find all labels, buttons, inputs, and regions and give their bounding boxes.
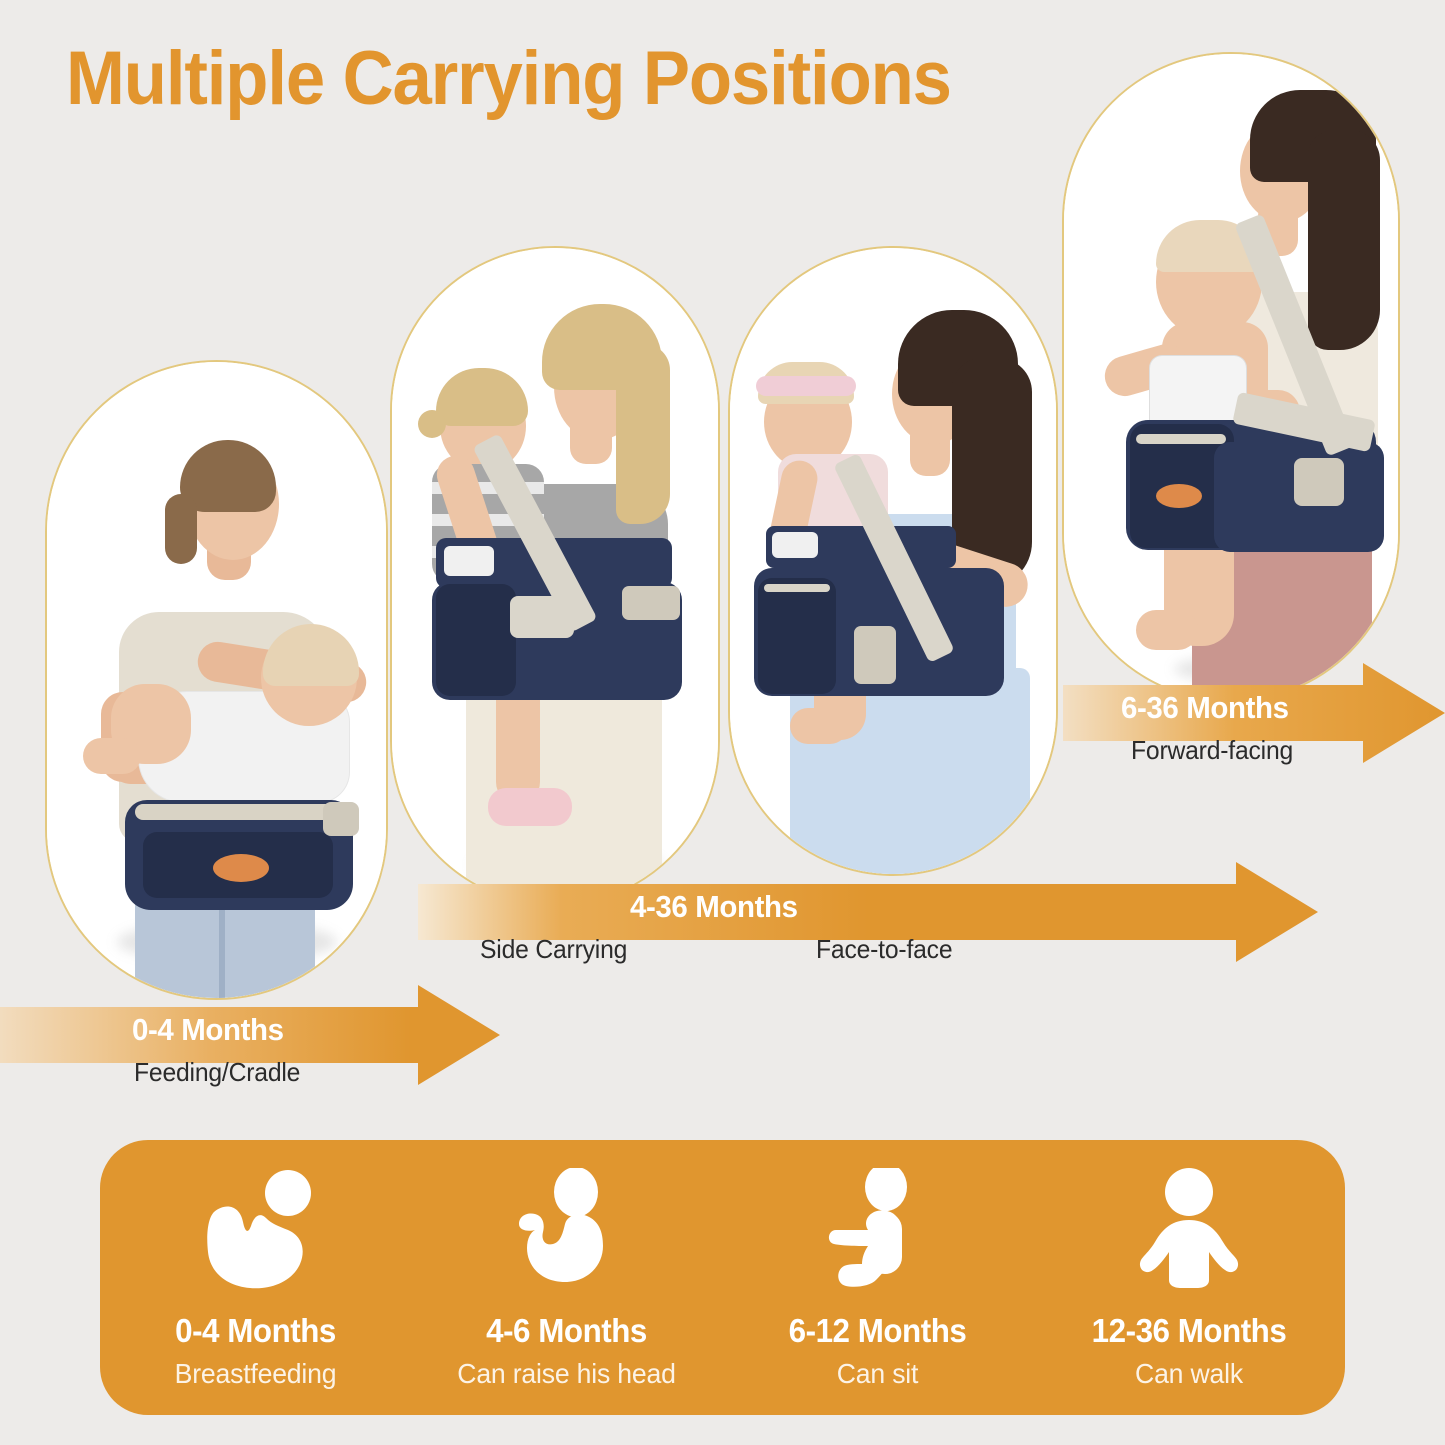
stage-age-breastfeeding: 0-4 Months [108, 1312, 403, 1350]
arrow-6-36-months: 6-36 Months Forward-facing [1063, 663, 1445, 763]
stage-age-can-walk: 12-36 Months [1041, 1312, 1337, 1350]
panel-feeding-cradle-photo [47, 362, 386, 998]
stage-desc-raise-head: Can raise his head [419, 1358, 714, 1390]
panel-face-to-face [728, 246, 1058, 876]
arrow-0-4-months-caption: Feeding/Cradle [134, 1057, 300, 1088]
stage-item-can-walk: 12-36 Months Can walk [1033, 1140, 1345, 1415]
panel-feeding-cradle [45, 360, 388, 1000]
stage-desc-can-sit: Can sit [730, 1358, 1025, 1390]
baby-sitting-icon [818, 1168, 938, 1298]
baby-raising-head-icon [507, 1168, 627, 1298]
stage-item-breastfeeding: 0-4 Months Breastfeeding [100, 1140, 411, 1415]
stage-desc-breastfeeding: Breastfeeding [108, 1358, 403, 1390]
arrow-6-36-months-age: 6-36 Months [1121, 690, 1289, 726]
arrow-4-36-months-age: 4-36 Months [630, 889, 798, 925]
development-stages-banner: 0-4 Months Breastfeeding 4-6 Months Can … [100, 1140, 1345, 1415]
baby-lying-icon [196, 1168, 316, 1298]
panel-side-carrying-photo [392, 248, 718, 904]
panel-face-to-face-photo [730, 248, 1056, 874]
panel-side-carrying [390, 246, 720, 906]
arrow-6-36-months-caption: Forward-facing [1131, 735, 1293, 766]
infographic-root: Multiple Carrying Positions [0, 0, 1445, 1445]
stage-age-raise-head: 4-6 Months [419, 1312, 714, 1350]
panel-forward-facing-photo [1064, 54, 1398, 700]
arrow-0-4-months-age: 0-4 Months [132, 1012, 284, 1048]
stage-desc-can-walk: Can walk [1041, 1358, 1337, 1390]
arrow-4-36-months: 4-36 Months Side Carrying Face-to-face [418, 862, 1318, 962]
panel-forward-facing [1062, 52, 1400, 702]
arrow-4-36-months-caption-left: Side Carrying [480, 934, 627, 965]
arrow-4-36-months-caption-right: Face-to-face [816, 934, 952, 965]
arrow-0-4-months: 0-4 Months Feeding/Cradle [0, 985, 500, 1085]
stage-item-raise-head: 4-6 Months Can raise his head [411, 1140, 722, 1415]
stage-item-can-sit: 6-12 Months Can sit [722, 1140, 1033, 1415]
stage-age-can-sit: 6-12 Months [730, 1312, 1025, 1350]
baby-standing-icon [1129, 1168, 1249, 1298]
page-title: Multiple Carrying Positions [66, 38, 951, 120]
